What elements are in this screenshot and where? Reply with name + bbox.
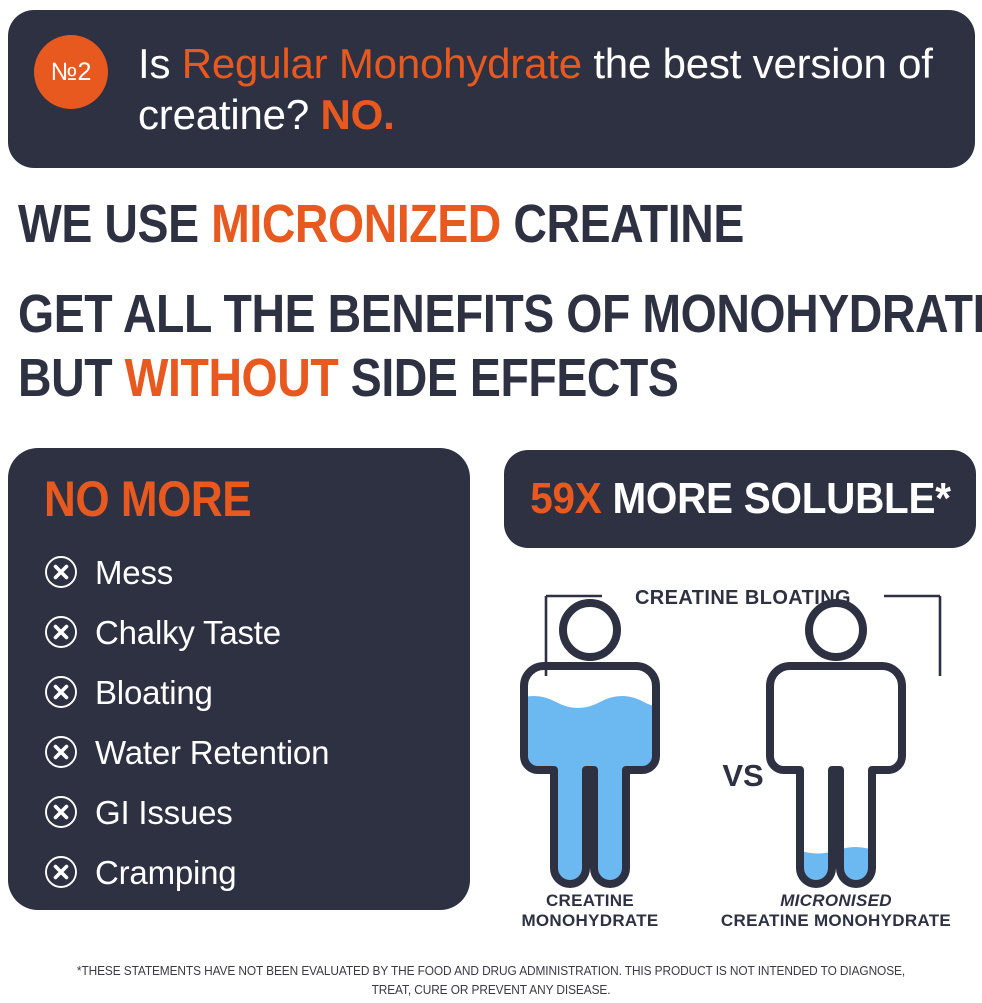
list-item-label: GI Issues <box>95 796 233 829</box>
headline-3-highlight: WITHOUT <box>125 348 339 408</box>
soluble-title: 59X MORE SOLUBLE* <box>530 477 950 521</box>
no-more-list: Mess Chalky Taste Bloating <box>44 542 470 902</box>
circle-x-icon <box>44 675 78 709</box>
headline-3-text-a: BUT <box>18 348 125 408</box>
right-figure-caption-line2: CREATINE MONOHYDRATE <box>721 911 951 930</box>
headline-line-2: GET ALL THE BENEFITS OF MONOHYDRATE, <box>18 286 835 342</box>
creatine-bloating-diagram: CREATINE BLOATING CREATINE MONOHYDRATE V… <box>504 570 982 942</box>
bloating-comparison-svg: CREATINE BLOATING CREATINE MONOHYDRATE V… <box>504 570 982 942</box>
step-number-badge: №2 <box>34 35 108 109</box>
no-more-title: NO MORE <box>44 474 419 524</box>
list-item-label: Bloating <box>95 676 213 709</box>
right-figure-group <box>758 603 916 890</box>
headline-line-3: BUT WITHOUT SIDE EFFECTS <box>18 350 835 406</box>
list-item: Cramping <box>44 842 470 902</box>
header-answer-period: . <box>383 91 394 138</box>
left-figure-group <box>512 603 670 890</box>
list-item-label: Water Retention <box>95 736 329 769</box>
list-item-label: Mess <box>95 556 173 589</box>
header-answer: NO <box>320 91 383 138</box>
circle-x-icon <box>44 615 78 649</box>
soluble-banner: 59X MORE SOLUBLE* <box>504 450 976 548</box>
headline-1-text-a: WE USE <box>18 194 211 254</box>
headline-line-1: WE USE MICRONIZED CREATINE <box>18 196 835 252</box>
headline-3-text-b: SIDE EFFECTS <box>338 348 678 408</box>
circle-x-icon <box>44 795 78 829</box>
list-item-label: Chalky Taste <box>95 616 281 649</box>
right-figure-body <box>770 666 902 884</box>
vs-label: VS <box>722 758 763 793</box>
right-figure-caption-emphasis: MICRONISED <box>780 891 892 910</box>
headline-block: WE USE MICRONIZED CREATINE GET ALL THE B… <box>18 196 968 406</box>
circle-x-icon <box>44 555 78 589</box>
list-item: Water Retention <box>44 722 470 782</box>
header-question-part1: Is <box>138 40 182 87</box>
list-item: GI Issues <box>44 782 470 842</box>
left-figure-caption-line2: MONOHYDRATE <box>521 911 658 930</box>
right-figure-head <box>809 603 863 657</box>
footer-disclaimer: *THESE STATEMENTS HAVE NOT BEEN EVALUATE… <box>25 962 958 1000</box>
footer-line-2: TREAT, CURE OR PREVENT ANY DISEASE. <box>25 981 958 1000</box>
list-item: Chalky Taste <box>44 602 470 662</box>
headline-1-highlight: MICRONIZED <box>211 194 501 254</box>
headline-1-text-b: CREATINE <box>501 194 744 254</box>
list-item: Bloating <box>44 662 470 722</box>
list-item-label: Cramping <box>95 856 236 889</box>
footer-line-1: *THESE STATEMENTS HAVE NOT BEEN EVALUATE… <box>25 962 958 981</box>
no-more-panel: NO MORE Mess Chalky Taste <box>8 448 470 910</box>
soluble-rest: MORE SOLUBLE* <box>601 474 950 523</box>
header-question-highlight: Regular Monohydrate <box>182 40 582 87</box>
circle-x-icon <box>44 855 78 889</box>
header-question: Is Regular Monohydrate the best version … <box>138 38 951 140</box>
left-figure-caption-line1: CREATINE <box>546 891 634 910</box>
header-banner: №2 Is Regular Monohydrate the best versi… <box>8 10 975 168</box>
left-figure-head <box>563 603 617 657</box>
list-item: Mess <box>44 542 470 602</box>
circle-x-icon <box>44 735 78 769</box>
soluble-multiplier: 59X <box>530 474 601 523</box>
badge-label: №2 <box>50 60 91 85</box>
